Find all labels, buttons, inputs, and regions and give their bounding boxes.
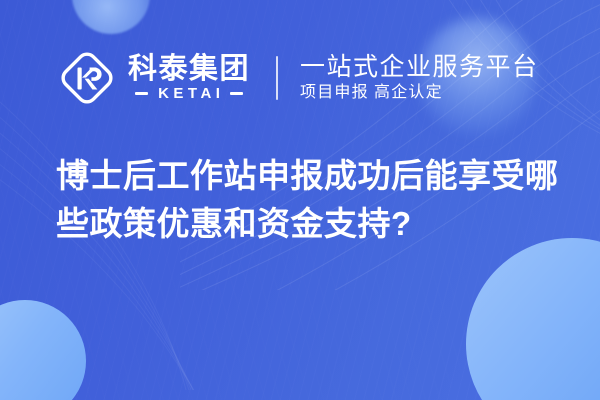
brand-name-en-row: KETAI	[135, 86, 244, 101]
brand-name-cn: 科泰集团	[128, 55, 250, 84]
brand-wordmark: 科泰集团 KETAI	[128, 55, 250, 101]
header-divider	[276, 56, 278, 100]
light-circle-bottom-right	[466, 238, 600, 400]
promo-banner: 科泰集团 KETAI 一站式企业服务平台 项目申报 高企认定 博士后工作站申报成…	[0, 0, 600, 400]
ketai-diamond-k-logo-icon	[58, 49, 116, 107]
glow-circle-top-left	[72, 0, 150, 34]
headline-block: 博士后工作站申报成功后能享受哪 些政策优惠和资金支持?	[56, 152, 570, 248]
brand-rule-right-icon	[230, 92, 243, 95]
brand-lockup[interactable]: 科泰集团 KETAI	[58, 49, 250, 107]
brand-name-en: KETAI	[154, 86, 225, 101]
light-circle-left-edge	[0, 300, 86, 400]
tagline-block: 一站式企业服务平台 项目申报 高企认定	[300, 55, 539, 101]
tagline-secondary: 项目申报 高企认定	[300, 85, 539, 101]
banner-header: 科泰集团 KETAI 一站式企业服务平台 项目申报 高企认定	[0, 40, 600, 116]
brand-rule-left-icon	[135, 92, 148, 95]
tagline-primary: 一站式企业服务平台	[300, 55, 539, 80]
headline-line-1: 博士后工作站申报成功后能享受哪	[56, 152, 570, 200]
headline-line-2: 些政策优惠和资金支持?	[56, 200, 570, 248]
